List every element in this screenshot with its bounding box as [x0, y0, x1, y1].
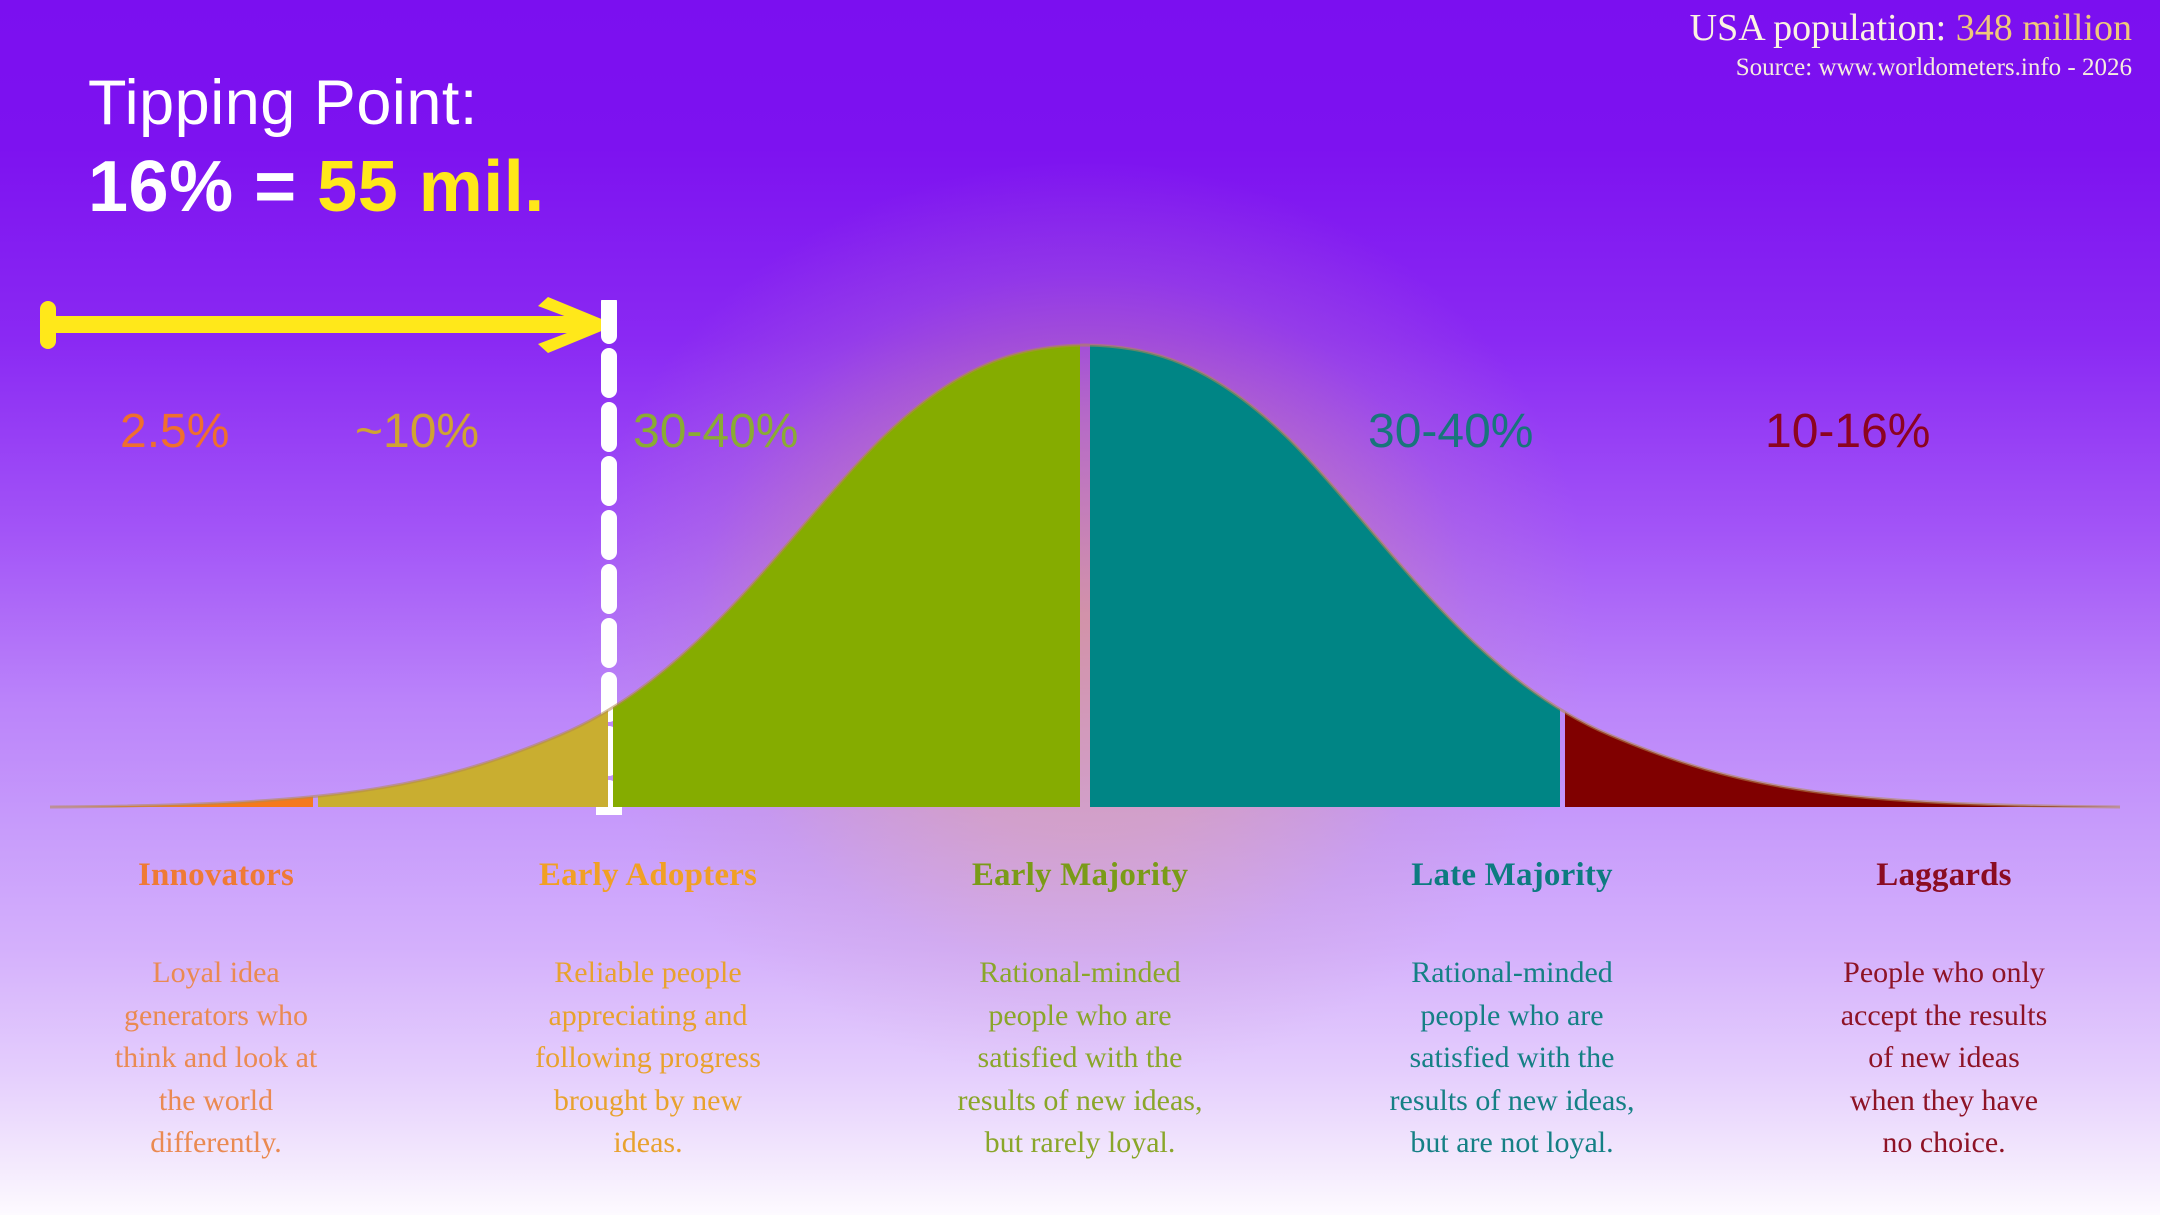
- tipping-percent: 16% =: [88, 147, 317, 227]
- tipping-point-range-arrow: [40, 295, 620, 357]
- segment-description-early-majority: Rational-minded people who are satisfied…: [882, 952, 1278, 1165]
- divider-foot: [596, 798, 622, 815]
- population-source-block: USA population: 348 million Source: www.…: [1690, 6, 2132, 82]
- pct-label-early-majority: 30-40%: [633, 404, 798, 459]
- segment-title-early-majority: Early Majority: [882, 857, 1278, 894]
- population-prefix: USA population:: [1690, 7, 1956, 49]
- tipping-point-value: 16% = 55 mil.: [88, 151, 545, 223]
- curve-segment-innovators: [40, 330, 313, 810]
- segment-column-late-majority: Late Majority Rational-minded people who…: [1296, 855, 1728, 1215]
- title-block: Tipping Point: 16% = 55 mil.: [88, 72, 545, 223]
- segment-legend: Innovators Loyal idea generators who thi…: [0, 855, 2160, 1215]
- segment-title-late-majority: Late Majority: [1314, 857, 1710, 894]
- tipping-people: 55 mil.: [317, 147, 545, 227]
- segment-column-early-adopters: Early Adopters Reliable people appreciat…: [432, 855, 864, 1215]
- pct-label-late-majority: 30-40%: [1368, 404, 1533, 459]
- segment-column-early-majority: Early Majority Rational-minded people wh…: [864, 855, 1296, 1215]
- segment-column-innovators: Innovators Loyal idea generators who thi…: [0, 855, 432, 1215]
- infographic-canvas: USA population: 348 million Source: www.…: [0, 0, 2160, 1215]
- segment-column-laggards: Laggards People who only accept the resu…: [1728, 855, 2160, 1215]
- segment-title-laggards: Laggards: [1746, 857, 2142, 894]
- curve-segment-late-majority: [1090, 330, 1560, 810]
- source-line: Source: www.worldometers.info - 2026: [1690, 53, 2132, 83]
- curve-segment-early-majority: [613, 330, 1080, 810]
- curve-segment-early-adopters: [318, 330, 608, 810]
- segment-description-late-majority: Rational-minded people who are satisfied…: [1314, 952, 1710, 1165]
- segment-title-early-adopters: Early Adopters: [450, 857, 846, 894]
- pct-label-early-adopters: ~10%: [355, 404, 479, 459]
- segment-description-innovators: Loyal idea generators who think and look…: [18, 952, 414, 1165]
- pct-label-laggards: 10-16%: [1765, 404, 1930, 459]
- segment-description-laggards: People who only accept the results of ne…: [1746, 952, 2142, 1165]
- curve-segment-laggards: [1565, 330, 2130, 810]
- page-title: Tipping Point:: [88, 72, 545, 135]
- tipping-point-divider: [596, 300, 622, 820]
- population-value: 348 million: [1956, 7, 2132, 49]
- population-line: USA population: 348 million: [1690, 6, 2132, 51]
- arrow-shaft: [48, 316, 590, 333]
- pct-label-innovators: 2.5%: [120, 404, 229, 459]
- segment-title-innovators: Innovators: [18, 857, 414, 894]
- segment-description-early-adopters: Reliable people appreciating and followi…: [450, 952, 846, 1165]
